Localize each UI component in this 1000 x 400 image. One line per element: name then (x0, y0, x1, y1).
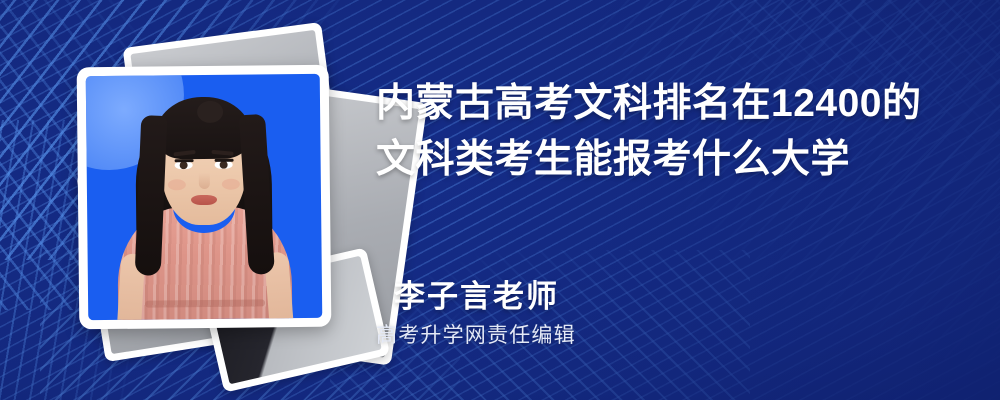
portrait-lash-right (215, 159, 234, 162)
article-header-banner: 内蒙古高考文科排名在12400的文科类考生能报考什么大学 李子言老师 高考升学网… (0, 0, 1000, 400)
author-photo (86, 74, 323, 320)
portrait-lips (191, 195, 217, 205)
portrait-eye-left (175, 161, 193, 169)
portrait-iris-right (220, 161, 228, 169)
author-photo-frame (77, 65, 332, 330)
portrait-nose (199, 173, 210, 189)
author-role: 高考升学网责任编辑 (376, 319, 576, 349)
portrait-iris-left (180, 161, 188, 169)
banner-text-block: 内蒙古高考文科排名在12400的文科类考生能报考什么大学 李子言老师 高考升学网… (376, 0, 976, 400)
portrait-eye-right (215, 161, 233, 169)
author-name: 李子言老师 (394, 271, 559, 316)
photo-card-stack (60, 40, 360, 360)
portrait-illustration (86, 74, 323, 320)
page-title: 内蒙古高考文科排名在12400的文科类考生能报考什么大学 (376, 76, 946, 188)
portrait-lash-left (175, 159, 194, 162)
portrait-dress-seam (145, 299, 265, 307)
